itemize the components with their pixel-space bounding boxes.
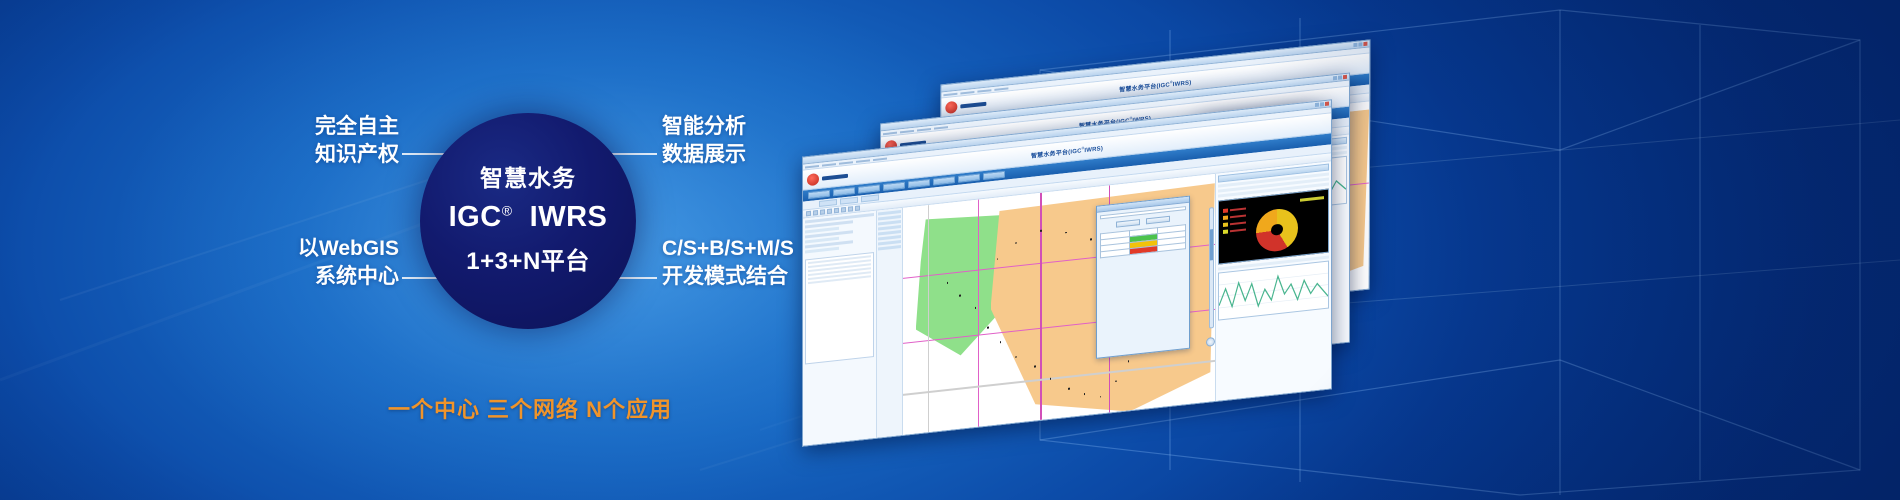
- trend-chart: [1218, 261, 1329, 321]
- app-title: 智慧水务平台(IGC®IWRS): [1031, 143, 1103, 160]
- feature-label-top-right: 智能分析 数据展示: [662, 113, 862, 170]
- feature-label-line2: 知识产权: [249, 141, 399, 169]
- registered-mark-icon: ®: [502, 202, 513, 218]
- center-circle: 智慧水务 IGC® IWRS 1+3+N平台: [420, 113, 636, 329]
- feature-label-line1: 智能分析: [662, 113, 862, 141]
- monitoring-panel[interactable]: [1215, 161, 1331, 407]
- center-title: 智慧水务: [480, 166, 576, 191]
- feature-label-line2: 系统中心: [224, 263, 399, 291]
- dialog-table: [1100, 224, 1185, 258]
- company-logo-text: [822, 173, 848, 180]
- pie-chart: [1256, 207, 1298, 254]
- feature-label-line1: 以WebGIS: [224, 235, 399, 263]
- feature-label-bottom-right: C/S+B/S+M/S 开发模式结合: [662, 235, 882, 292]
- company-logo-icon: [945, 100, 957, 113]
- pie-chart-card: [1218, 189, 1329, 265]
- map-canvas[interactable]: [903, 174, 1215, 441]
- feature-label-line2: 数据展示: [662, 141, 862, 169]
- window-controls[interactable]: [1353, 42, 1367, 47]
- analysis-dialog[interactable]: [1096, 195, 1189, 359]
- tagline: 一个中心 三个网络 N个应用: [250, 392, 810, 424]
- concept-diagram: 完全自主 知识产权 智能分析 数据展示 以WebGIS 系统中心 C/S+B/S…: [250, 95, 810, 385]
- feature-label-line2: 开发模式结合: [662, 263, 882, 291]
- feature-label-bottom-left: 以WebGIS 系统中心: [224, 235, 399, 292]
- screenshot-stack: 智慧水务平台(IGC®IWRS): [780, 40, 1900, 460]
- center-platform: 1+3+N平台: [466, 241, 590, 276]
- center-product-iwrs: IWRS: [530, 201, 608, 233]
- window-controls[interactable]: [1315, 102, 1329, 108]
- feature-label-line1: 完全自主: [249, 113, 399, 141]
- center-product-name: IGC® IWRS: [449, 201, 608, 234]
- feature-label-top-left: 完全自主 知识产权: [249, 113, 399, 170]
- feature-label-line1: C/S+B/S+M/S: [662, 235, 882, 263]
- pie-legend: [1223, 207, 1246, 237]
- pie-chart-caption: [1300, 196, 1324, 202]
- banner-root: 智慧水务平台(IGC®IWRS): [0, 0, 1900, 500]
- map-zoom-slider[interactable]: [1209, 207, 1214, 329]
- center-product-igc: IGC: [449, 201, 502, 233]
- window-controls[interactable]: [1333, 75, 1347, 81]
- company-logo-text: [960, 101, 986, 108]
